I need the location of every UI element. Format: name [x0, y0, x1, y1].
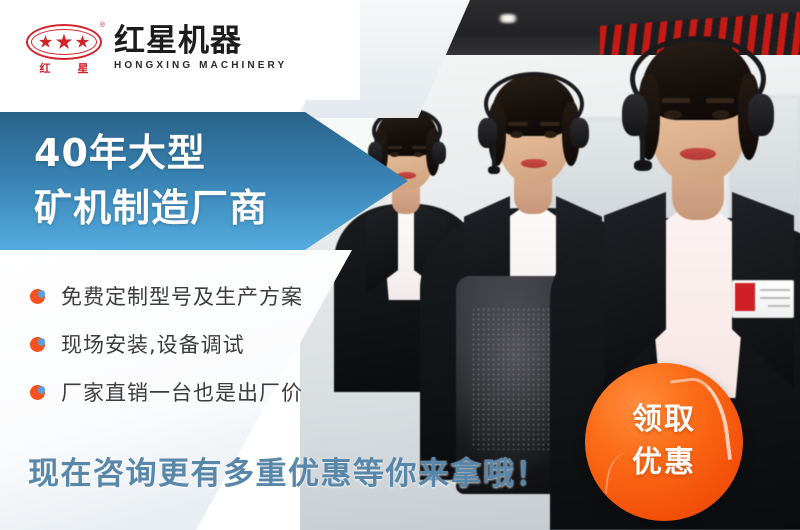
feature-label: 厂家直销一台也是出厂价 [61, 377, 303, 407]
badge-text-line [760, 297, 790, 299]
headset-mic-icon [634, 160, 652, 171]
logo-stars [26, 31, 102, 53]
brand-name-en: HONGXING MACHINERY [114, 60, 287, 71]
footer-promo-text: 现在咨询更有多重优惠等你来拿哦！ [28, 448, 548, 493]
brand-wordmark: 红星机器 HONGXING MACHINERY [114, 25, 287, 72]
feature-label: 现场安装,设备调试 [61, 329, 245, 359]
headset-mic-icon [488, 166, 500, 174]
lips [521, 159, 547, 168]
headline-text-group: 40年大型 矿机制造厂商 [34, 126, 334, 236]
headset-band-icon [630, 36, 766, 122]
list-item: 现场安装,设备调试 [30, 320, 303, 368]
badge-text-line [768, 305, 790, 307]
star-icon [76, 35, 90, 49]
list-item: 免费定制型号及生产方案 [30, 272, 303, 320]
badge-text-line [760, 289, 790, 291]
cta-line-2: 优惠 [632, 442, 696, 485]
logo-sub-characters: 红 星 [26, 60, 102, 76]
lips [680, 148, 716, 160]
headline-line-2: 矿机制造厂商 [34, 181, 334, 236]
star-icon [56, 34, 73, 51]
logo-char-xing: 星 [78, 60, 89, 76]
feature-list: 免费定制型号及生产方案 现场安装,设备调试 厂家直销一台也是出厂价 [30, 272, 303, 416]
claim-discount-button[interactable]: 领取 优惠 [585, 363, 743, 521]
bullet-icon [30, 289, 45, 304]
id-badge [732, 280, 794, 318]
bullet-icon [30, 337, 45, 352]
promo-banner: ® 红 星 红星机器 HONGXING MACHINERY 40年大型 矿机制造… [0, 0, 800, 530]
headset-earcup-icon [748, 94, 774, 136]
feature-label: 免费定制型号及生产方案 [61, 281, 303, 311]
star-icon [39, 35, 53, 49]
headset-mic-arm-icon [640, 130, 645, 164]
list-item: 厂家直销一台也是出厂价 [30, 368, 303, 416]
ceiling-light-icon [496, 14, 520, 23]
bullet-icon [30, 385, 45, 400]
cta-line-1: 领取 [632, 399, 696, 442]
logo-char-hong: 红 [40, 60, 51, 76]
brand-name-cn: 红星机器 [114, 25, 287, 58]
headline-line-1: 40年大型 [34, 126, 334, 181]
brand-logo[interactable]: ® 红 星 红星机器 HONGXING MACHINERY [26, 22, 287, 74]
registered-mark: ® [100, 22, 105, 29]
hongxing-star-ellipse-logo-icon: ® 红 星 [26, 22, 102, 74]
badge-photo [735, 283, 755, 311]
